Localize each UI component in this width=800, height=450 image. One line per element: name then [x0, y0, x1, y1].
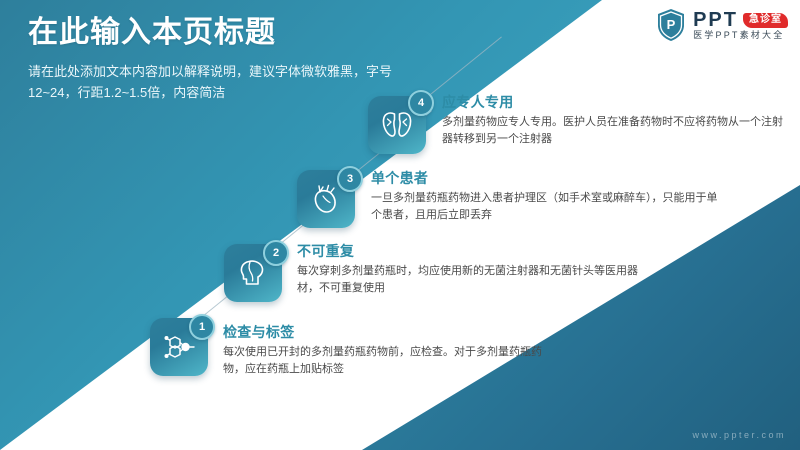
step-text-block: 单个患者 一旦多剂量药瓶药物进入患者护理区（如手术室或麻醉车），只能用于单个患者…: [371, 170, 721, 224]
step-description: 每次穿刺多剂量药瓶时，均应使用新的无菌注射器和无菌针头等医用器材，不可重复使用: [297, 263, 647, 297]
step-heading: 单个患者: [371, 170, 721, 187]
step-description: 一旦多剂量药瓶药物进入患者护理区（如手术室或麻醉车），只能用于单个患者，且用后立…: [371, 190, 721, 224]
step-number-badge: 2: [263, 240, 289, 266]
step-description: 每次使用已开封的多剂量药瓶药物前，应检查。对于多剂量药瓶药物，应在药瓶上加贴标签: [223, 344, 563, 378]
steps-list: 4 应专人专用 多剂量药物应专人专用。医护人员在准备药物时不应将药物从一个注射器…: [0, 0, 800, 450]
step-heading: 不可重复: [297, 243, 647, 260]
step-number-badge: 1: [189, 314, 215, 340]
step-number-badge: 4: [408, 90, 434, 116]
step-number-badge: 3: [337, 166, 363, 192]
step-heading: 应专人专用: [442, 94, 786, 111]
step-text-block: 检查与标签 每次使用已开封的多剂量药瓶药物前，应检查。对于多剂量药瓶药物，应在药…: [223, 324, 563, 378]
slide-canvas: 在此输入本页标题 请在此处添加文本内容加以解释说明，建议字体微软雅黑，字号12~…: [0, 0, 800, 450]
step-description: 多剂量药物应专人专用。医护人员在准备药物时不应将药物从一个注射器转移到另一个注射…: [442, 114, 786, 148]
step-heading: 检查与标签: [223, 324, 563, 341]
step-text-block: 应专人专用 多剂量药物应专人专用。医护人员在准备药物时不应将药物从一个注射器转移…: [442, 94, 786, 148]
site-watermark: www.ppter.com: [692, 430, 786, 440]
step-text-block: 不可重复 每次穿刺多剂量药瓶时，均应使用新的无菌注射器和无菌针头等医用器材，不可…: [297, 243, 647, 297]
